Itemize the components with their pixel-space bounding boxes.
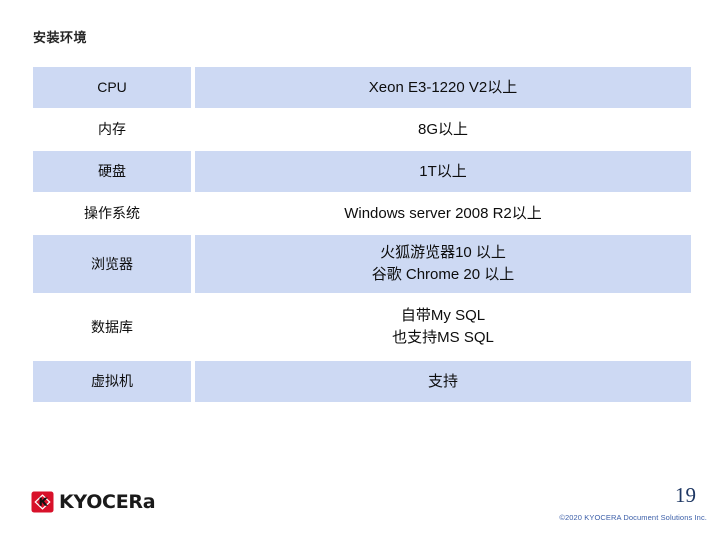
table-cell-value-line: 自带My SQL	[195, 305, 691, 327]
table-cell-value-line: 1T以上	[195, 161, 691, 183]
table-cell-value: 8G以上	[195, 109, 691, 150]
table-cell-value: 1T以上	[195, 151, 691, 192]
table-cell-value-line: 火狐游览器10 以上	[195, 242, 691, 264]
kyocera-logo: KYOCERa	[31, 489, 155, 515]
kyocera-diamond-mark	[31, 491, 54, 513]
table-row: 虚拟机支持	[33, 361, 691, 402]
table-cell-value-line: 也支持MS SQL	[195, 327, 691, 349]
table-cell-value: 火狐游览器10 以上谷歌 Chrome 20 以上	[195, 235, 691, 293]
table-cell-label: 数据库	[33, 294, 191, 360]
table-cell-value-line: 8G以上	[195, 119, 691, 141]
table-cell-value-line: Windows server 2008 R2以上	[195, 203, 691, 225]
slide-canvas: 安装环境 CPUXeon E3-1220 V2以上内存8G以上硬盘1T以上操作系…	[0, 0, 722, 541]
table-cell-label: 操作系统	[33, 193, 191, 234]
table-row: 硬盘1T以上	[33, 151, 691, 192]
table-row: 数据库自带My SQL也支持MS SQL	[33, 294, 691, 360]
table-cell-value-line: Xeon E3-1220 V2以上	[195, 77, 691, 99]
table-row: 内存8G以上	[33, 109, 691, 150]
table-cell-label: 浏览器	[33, 235, 191, 293]
specification-table: CPUXeon E3-1220 V2以上内存8G以上硬盘1T以上操作系统Wind…	[33, 67, 691, 402]
page-title: 安装环境	[33, 27, 87, 46]
table-cell-value-line: 谷歌 Chrome 20 以上	[195, 264, 691, 286]
table-cell-label: 虚拟机	[33, 361, 191, 402]
table-row: CPUXeon E3-1220 V2以上	[33, 67, 691, 108]
table-cell-value: Xeon E3-1220 V2以上	[195, 67, 691, 108]
copyright-notice: ©2020 KYOCERA Document Solutions Inc.	[559, 513, 707, 522]
table-cell-value-line: 支持	[195, 371, 691, 393]
table-cell-label: CPU	[33, 67, 191, 108]
table-row: 浏览器火狐游览器10 以上谷歌 Chrome 20 以上	[33, 235, 691, 293]
table-cell-label: 内存	[33, 109, 191, 150]
table-row: 操作系统Windows server 2008 R2以上	[33, 193, 691, 234]
table-cell-value: 支持	[195, 361, 691, 402]
table-cell-value: Windows server 2008 R2以上	[195, 193, 691, 234]
specification-table-body: CPUXeon E3-1220 V2以上内存8G以上硬盘1T以上操作系统Wind…	[33, 67, 691, 402]
table-cell-label: 硬盘	[33, 151, 191, 192]
page-number: 19	[675, 483, 696, 508]
table-cell-value: 自带My SQL也支持MS SQL	[195, 294, 691, 360]
kyocera-wordmark: KYOCERa	[59, 493, 155, 512]
